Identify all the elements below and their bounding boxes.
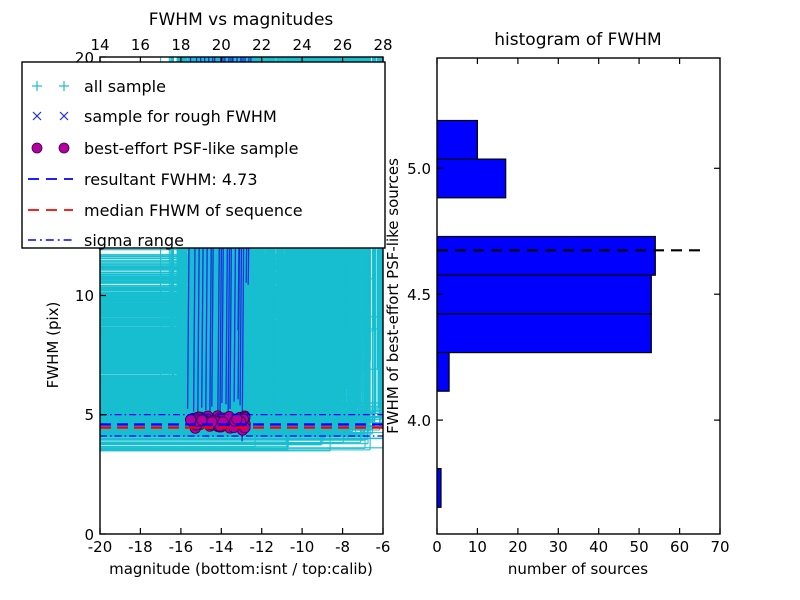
histogram-bar [437,353,449,392]
right-xtick-label: 40 [589,538,608,556]
plot-svg: -20 -18 -16 -14 -12 -10 -8 -6 14 16 18 2… [0,0,800,600]
right-panel-title: histogram of FWHM [494,30,661,50]
left-xtick-label: -6 [376,538,391,556]
right-ytick-label: 4.5 [407,286,431,304]
right-xtick-label: 0 [432,538,442,556]
histogram-bar [437,275,651,314]
figure-canvas: -20 -18 -16 -14 -12 -10 -8 -6 14 16 18 2… [0,0,800,600]
left-ytick-label: 10 [75,287,94,305]
right-ytick-label: 5.0 [407,160,431,178]
left-xtick-top-label: 20 [212,36,231,54]
right-panel-xlabel: number of sources [508,560,648,578]
left-ytick-label: 5 [84,406,94,424]
legend-label: sample for rough FWHM [84,107,277,126]
left-panel-ylabel: FWHM (pix) [44,302,62,389]
left-xtick-label: -18 [128,538,153,556]
left-xtick-top-label: 24 [293,36,312,54]
right-ytick-label: 4.0 [407,412,431,430]
left-xtick-top-label: 16 [131,36,150,54]
histogram-bar [437,121,477,160]
legend-box: all sample sample for rough FWHM best-ef… [22,62,385,250]
left-xtick-label: -10 [290,538,315,556]
left-panel-title: FWHM vs magnitudes [149,10,334,30]
left-xtick-top-label: 28 [373,36,392,54]
right-xtick-label: 70 [710,538,729,556]
left-xtick-top-label: 18 [171,36,190,54]
left-xtick-label: -8 [335,538,350,556]
right-xtick-label: 50 [630,538,649,556]
legend-label: median FHWM of sequence [84,201,303,220]
legend-label: best-effort PSF-like sample [84,139,298,158]
legend-label: sigma range [84,231,184,250]
histogram-bar [437,237,655,276]
right-xtick-label: 10 [468,538,487,556]
left-ytick-label: 0 [84,526,94,544]
left-xtick-label: -12 [249,538,274,556]
left-xtick-label: -16 [169,538,194,556]
left-xtick-top-label: 26 [333,36,352,54]
legend-label: all sample [84,77,166,96]
right-xtick-label: 30 [549,538,568,556]
histogram-bar [437,314,651,353]
right-xtick-label: 60 [670,538,689,556]
left-xtick-label: -14 [209,538,234,556]
right-xtick-label: 20 [508,538,527,556]
legend-label: resultant FWHM: 4.73 [84,170,258,189]
left-xtick-top-label: 22 [252,36,271,54]
histogram-bar [437,159,506,198]
left-panel-xlabel: magnitude (bottom:isnt / top:calib) [109,560,373,578]
right-panel-ylabel: FWHM of best-effort PSF-like sources [384,158,402,434]
